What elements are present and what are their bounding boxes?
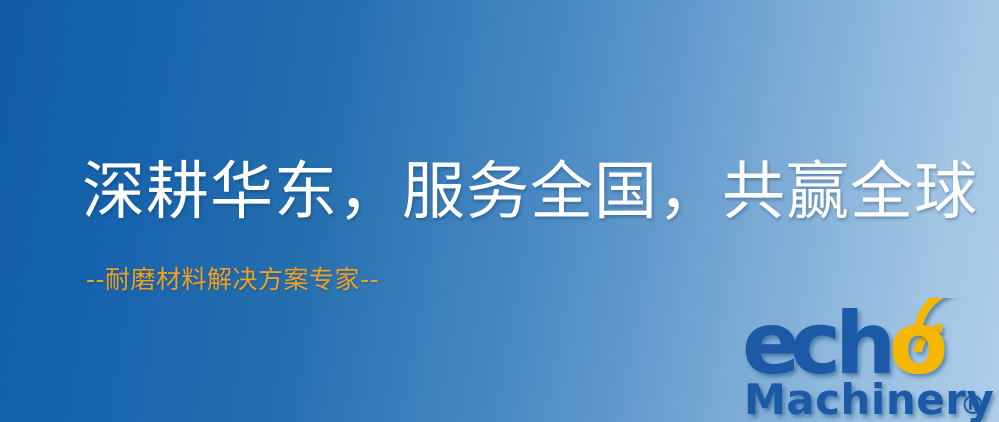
registered-trademark-icon: ®: [960, 391, 986, 421]
logo-tagline: Machinery: [744, 375, 994, 422]
page-subtitle: --耐磨材料解决方案专家--: [86, 264, 379, 296]
page-title: 深耕华东，服务全国，共赢全球: [82, 152, 978, 232]
echo-machinery-logo[interactable]: e c h o Machinery ®: [742, 298, 999, 422]
hero-banner: 深耕华东，服务全国，共赢全球 --耐磨材料解决方案专家-- e c h o: [0, 0, 999, 422]
